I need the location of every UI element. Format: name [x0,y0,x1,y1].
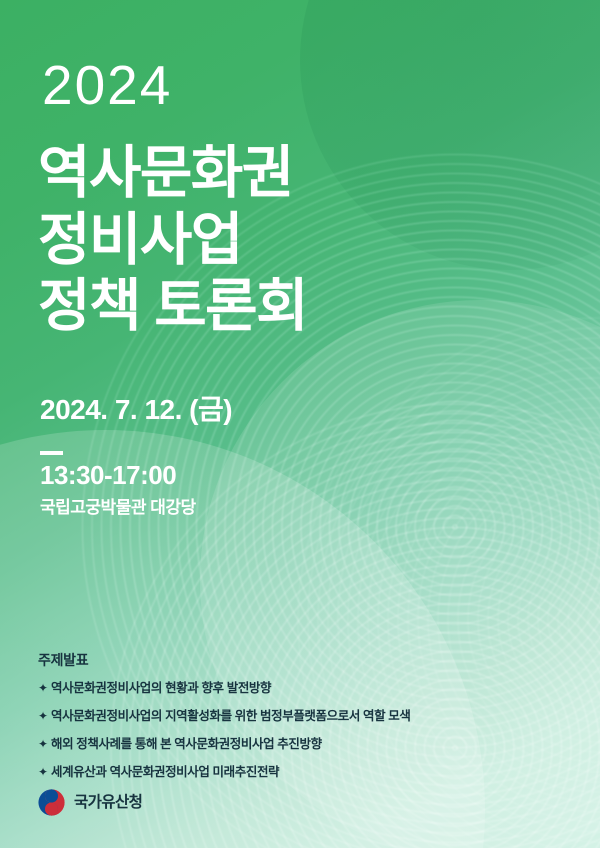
organization-logo: 국가유산청 [38,789,142,816]
agenda-list: ✦ 역사문화권정비사업의 현황과 향후 발전방향 ✦ 역사문화권정비사업의 지역… [38,680,410,792]
taegeuk-icon [38,789,65,816]
sparkle-bullet-icon: ✦ [38,680,51,696]
list-item: ✦ 역사문화권정비사업의 현황과 향후 발전방향 [38,680,410,697]
sparkle-bullet-icon: ✦ [38,708,51,724]
event-date: 2024. 7. 12. (금) [40,396,232,424]
agenda-item-label: 역사문화권정비사업의 지역활성화를 위한 범정부플랫폼으로서 역할 모색 [51,708,410,725]
organization-name: 국가유산청 [74,795,142,811]
poster-year: 2024 [42,58,172,113]
poster-content: 2024 역사문화권 정비사업 정책 토론회 2024. 7. 12. (금) … [0,0,600,848]
list-item: ✦ 해외 정책사례를 통해 본 역사문화권정비사업 추진방향 [38,736,410,753]
agenda-item-label: 세계유산과 역사문화권정비사업 미래추진전략 [51,764,279,781]
list-item: ✦ 역사문화권정비사업의 지역활성화를 위한 범정부플랫폼으로서 역할 모색 [38,708,410,725]
event-poster: 2024 역사문화권 정비사업 정책 토론회 2024. 7. 12. (금) … [0,0,600,848]
event-time: 13:30-17:00 [40,462,176,488]
sparkle-bullet-icon: ✦ [38,764,51,780]
page-title: 역사문화권 정비사업 정책 토론회 [38,140,307,340]
divider-rule [40,451,63,455]
event-venue: 국립고궁박물관 대강당 [40,497,196,519]
agenda-item-label: 역사문화권정비사업의 현황과 향후 발전방향 [51,680,271,697]
sparkle-bullet-icon: ✦ [38,736,51,752]
agenda-heading: 주제발표 [38,650,88,670]
agenda-item-label: 해외 정책사례를 통해 본 역사문화권정비사업 추진방향 [51,736,322,753]
list-item: ✦ 세계유산과 역사문화권정비사업 미래추진전략 [38,764,410,781]
